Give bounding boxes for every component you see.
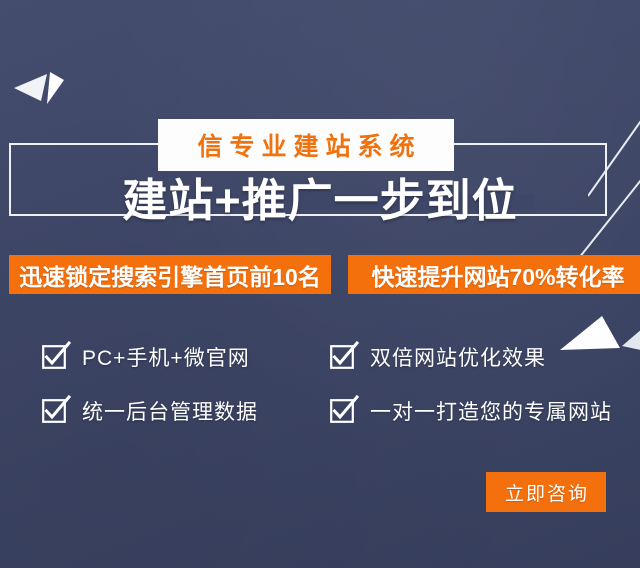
tagbar-right-text: 快速提升网站70%转化率 (371, 258, 624, 292)
consult-now-button[interactable]: 立即咨询 (486, 472, 606, 512)
tagbar-left: 迅速锁定搜索引擎首页前10名 (9, 255, 331, 294)
eyebrow-label-box: 信专业建站系统 (158, 119, 454, 171)
list-item: 双倍网站优化效果 (330, 340, 546, 374)
list-item-label: 一对一打造您的专属网站 (370, 396, 612, 426)
list-item-label: PC+手机+微官网 (82, 342, 250, 372)
headline-container: 建站+推广一步到位 (0, 178, 640, 223)
checkbox-checked-icon (330, 399, 354, 423)
list-item-label: 双倍网站优化效果 (370, 342, 546, 372)
checkbox-checked-icon (42, 399, 66, 423)
checkbox-checked-icon (330, 345, 354, 369)
tagbar-left-text: 迅速锁定搜索引擎首页前10名 (19, 258, 321, 292)
list-item: PC+手机+微官网 (42, 340, 250, 374)
tagbar-right: 快速提升网站70%转化率 (348, 255, 640, 294)
checkbox-checked-icon (42, 345, 66, 369)
paper-plane-left-icon (14, 68, 74, 108)
page-title: 建站+推广一步到位 (106, 178, 533, 223)
consult-now-button-label: 立即咨询 (503, 479, 589, 506)
promo-banner: 信专业建站系统 建站+推广一步到位 迅速锁定搜索引擎首页前10名 快速提升网站7… (0, 0, 640, 568)
eyebrow-label: 信专业建站系统 (190, 127, 421, 163)
feature-list: PC+手机+微官网 双倍网站优化效果 统一后台管理数据 (0, 332, 640, 432)
list-item: 一对一打造您的专属网站 (330, 394, 612, 428)
list-item-label: 统一后台管理数据 (82, 396, 258, 426)
list-item: 统一后台管理数据 (42, 394, 258, 428)
